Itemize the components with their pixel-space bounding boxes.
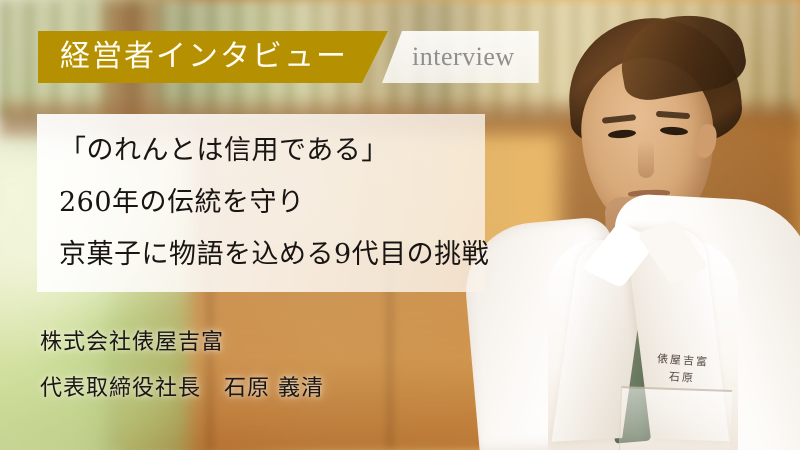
subject-coat-embroidery: 俵屋吉富 石原 <box>633 349 732 402</box>
category-banner-white: interview <box>382 31 539 83</box>
category-banner: 経営者インタビュー interview <box>38 31 539 83</box>
headline-line-3: 京菓子に物語を込める9代目の挑戦 <box>59 229 485 281</box>
headline-line-2: 260年の伝統を守り <box>59 177 485 229</box>
interview-hero-banner: 俵屋吉富 石原 経営者インタビュー interview 「のれんとは信用である」… <box>0 0 800 450</box>
byline-company: 株式会社俵屋吉富 <box>40 320 324 366</box>
subject-nose <box>638 140 654 178</box>
category-banner-gold: 経営者インタビュー <box>38 31 388 83</box>
headline-card: 「のれんとは信用である」 260年の伝統を守り 京菓子に物語を込める9代目の挑戦 <box>37 114 485 292</box>
category-banner-jp-label: 経営者インタビュー <box>60 42 348 72</box>
byline: 株式会社俵屋吉富 代表取締役社長 石原 義清 <box>40 320 324 412</box>
byline-person: 代表取締役社長 石原 義清 <box>40 366 324 412</box>
category-banner-en-label: interview <box>412 42 515 72</box>
headline-line-1: 「のれんとは信用である」 <box>59 125 485 177</box>
